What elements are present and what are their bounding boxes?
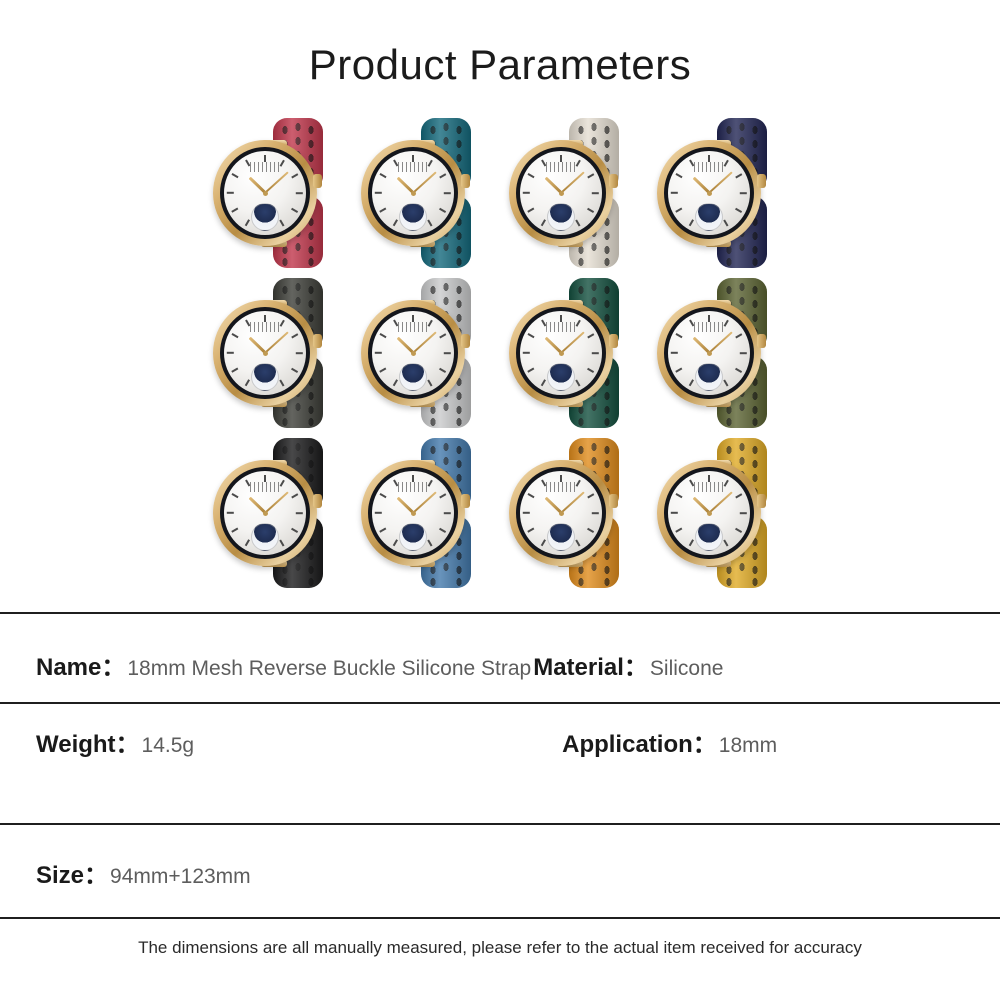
dial-tick bbox=[232, 528, 239, 533]
watch-crown bbox=[609, 334, 618, 348]
dial-tick bbox=[576, 379, 581, 386]
moon-phase-subdial bbox=[547, 363, 575, 391]
minute-hand bbox=[412, 331, 437, 354]
watch-dial bbox=[520, 471, 602, 555]
dial-tick bbox=[587, 173, 594, 178]
dial-tick bbox=[291, 173, 298, 178]
watch-case bbox=[213, 140, 317, 246]
watch-bezel bbox=[368, 307, 458, 399]
spec-size: Size： 94mm+123mm bbox=[36, 855, 251, 890]
minute-hand bbox=[560, 331, 585, 354]
dial-tick bbox=[264, 475, 266, 482]
hand-pivot bbox=[263, 511, 268, 516]
minute-hand bbox=[560, 491, 585, 514]
dial-tick bbox=[523, 512, 530, 514]
spec-row-weight: Weight： 14.5g Application： 18mm bbox=[0, 724, 1000, 758]
watch-swatch[interactable] bbox=[353, 272, 501, 432]
dial-tick bbox=[735, 528, 742, 533]
dial-tick bbox=[280, 539, 285, 546]
dial-tick bbox=[245, 539, 250, 546]
dial-tick bbox=[740, 192, 747, 194]
watch-swatch[interactable] bbox=[649, 112, 797, 272]
moon-phase-subdial bbox=[695, 363, 723, 391]
divider-weight-size bbox=[0, 823, 1000, 825]
dial-tick bbox=[676, 368, 683, 373]
watch-dial bbox=[372, 151, 454, 235]
divider-bottom bbox=[0, 917, 1000, 919]
dial-tick bbox=[708, 155, 710, 162]
dial-complication bbox=[398, 482, 428, 492]
dial-tick bbox=[724, 320, 729, 327]
watch-image bbox=[655, 118, 795, 268]
watch-case bbox=[657, 140, 761, 246]
dial-complication bbox=[250, 162, 280, 172]
dial-tick bbox=[671, 352, 678, 354]
dial-tick bbox=[541, 219, 546, 226]
dial-tick bbox=[592, 352, 599, 354]
dial-tick bbox=[232, 333, 239, 338]
dial-tick bbox=[428, 379, 433, 386]
watch-swatch[interactable] bbox=[649, 272, 797, 432]
watch-swatch[interactable] bbox=[205, 272, 353, 432]
dial-tick bbox=[444, 192, 451, 194]
watch-dial bbox=[668, 151, 750, 235]
dial-tick bbox=[576, 539, 581, 546]
dial-complication bbox=[398, 322, 428, 332]
dial-tick bbox=[428, 320, 433, 327]
watch-bezel bbox=[664, 147, 754, 239]
weight-label: Weight： bbox=[36, 724, 140, 759]
dial-tick bbox=[412, 315, 414, 322]
dial-tick bbox=[444, 352, 451, 354]
watch-image bbox=[359, 278, 499, 428]
watch-bezel bbox=[220, 467, 310, 559]
watch-crown bbox=[313, 334, 322, 348]
dial-tick bbox=[689, 379, 694, 386]
watch-image bbox=[211, 438, 351, 588]
dial-complication bbox=[398, 162, 428, 172]
dial-tick bbox=[280, 379, 285, 386]
dial-tick bbox=[380, 333, 387, 338]
watch-bezel bbox=[664, 307, 754, 399]
dial-tick bbox=[280, 219, 285, 226]
moon-phase-subdial bbox=[695, 203, 723, 231]
weight-value: 14.5g bbox=[142, 734, 195, 758]
dial-tick bbox=[439, 333, 446, 338]
dial-tick bbox=[280, 480, 285, 487]
dial-tick bbox=[375, 192, 382, 194]
hand-pivot bbox=[411, 191, 416, 196]
moon-phase-subdial bbox=[251, 523, 279, 551]
watch-swatch[interactable] bbox=[353, 432, 501, 592]
dial-tick bbox=[740, 512, 747, 514]
dial-tick bbox=[375, 352, 382, 354]
watch-crown bbox=[313, 174, 322, 188]
dial-complication bbox=[546, 482, 576, 492]
watch-case bbox=[213, 460, 317, 566]
dial-complication bbox=[250, 482, 280, 492]
dial-tick bbox=[676, 528, 683, 533]
dial-tick bbox=[689, 219, 694, 226]
watch-dial bbox=[224, 311, 306, 395]
watch-dial bbox=[372, 471, 454, 555]
watch-crown bbox=[461, 174, 470, 188]
watch-swatch[interactable] bbox=[649, 432, 797, 592]
dial-tick bbox=[439, 368, 446, 373]
moon-phase-subdial bbox=[399, 203, 427, 231]
dial-tick bbox=[380, 493, 387, 498]
watch-dial bbox=[224, 151, 306, 235]
dial-tick bbox=[380, 173, 387, 178]
dial-tick bbox=[428, 160, 433, 167]
dial-tick bbox=[439, 528, 446, 533]
minute-hand bbox=[708, 331, 733, 354]
watch-crown bbox=[609, 494, 618, 508]
watch-swatch[interactable] bbox=[501, 112, 649, 272]
watch-image bbox=[359, 438, 499, 588]
dial-tick bbox=[412, 155, 414, 162]
watch-bezel bbox=[368, 467, 458, 559]
dial-tick bbox=[227, 512, 234, 514]
dial-tick bbox=[412, 475, 414, 482]
watch-image bbox=[211, 278, 351, 428]
dial-tick bbox=[291, 528, 298, 533]
dial-tick bbox=[541, 539, 546, 546]
watch-image bbox=[507, 438, 647, 588]
spec-row-name: Name： 18mm Mesh Reverse Buckle Silicone … bbox=[0, 647, 1000, 681]
dial-tick bbox=[227, 192, 234, 194]
dial-tick bbox=[528, 208, 535, 213]
dial-tick bbox=[380, 368, 387, 373]
dial-tick bbox=[264, 155, 266, 162]
watch-bezel bbox=[220, 307, 310, 399]
watch-bezel bbox=[368, 147, 458, 239]
dial-tick bbox=[592, 192, 599, 194]
dial-tick bbox=[280, 160, 285, 167]
dial-tick bbox=[232, 173, 239, 178]
dial-tick bbox=[592, 512, 599, 514]
watch-case bbox=[509, 460, 613, 566]
dial-tick bbox=[380, 208, 387, 213]
dial-tick bbox=[444, 512, 451, 514]
watch-image bbox=[655, 438, 795, 588]
moon-phase-subdial bbox=[547, 203, 575, 231]
dial-tick bbox=[689, 539, 694, 546]
dial-complication bbox=[546, 322, 576, 332]
watch-case bbox=[657, 460, 761, 566]
dial-tick bbox=[528, 368, 535, 373]
watch-color-gallery bbox=[205, 112, 795, 592]
hand-pivot bbox=[707, 511, 712, 516]
watch-dial bbox=[520, 311, 602, 395]
dial-tick bbox=[587, 493, 594, 498]
watch-bezel bbox=[516, 147, 606, 239]
dial-tick bbox=[541, 379, 546, 386]
dial-tick bbox=[291, 333, 298, 338]
dial-tick bbox=[296, 352, 303, 354]
watch-case bbox=[361, 460, 465, 566]
spec-material: Material： Silicone bbox=[533, 647, 723, 682]
minute-hand bbox=[264, 491, 289, 514]
dial-tick bbox=[245, 219, 250, 226]
dial-tick bbox=[708, 315, 710, 322]
dial-tick bbox=[291, 368, 298, 373]
dial-tick bbox=[393, 219, 398, 226]
watch-swatch[interactable] bbox=[205, 112, 353, 272]
name-value: 18mm Mesh Reverse Buckle Silicone Strap bbox=[127, 657, 531, 681]
dial-tick bbox=[708, 475, 710, 482]
watch-dial bbox=[668, 471, 750, 555]
dial-tick bbox=[291, 208, 298, 213]
dial-tick bbox=[296, 512, 303, 514]
dial-tick bbox=[296, 192, 303, 194]
dial-tick bbox=[560, 475, 562, 482]
dial-tick bbox=[676, 493, 683, 498]
dial-tick bbox=[671, 512, 678, 514]
moon-phase-subdial bbox=[251, 363, 279, 391]
watch-crown bbox=[461, 494, 470, 508]
dial-tick bbox=[428, 539, 433, 546]
moon-phase-subdial bbox=[547, 523, 575, 551]
dial-tick bbox=[676, 208, 683, 213]
watch-case bbox=[361, 300, 465, 406]
watch-swatch[interactable] bbox=[205, 432, 353, 592]
watch-case bbox=[509, 140, 613, 246]
divider-name-weight bbox=[0, 702, 1000, 704]
watch-crown bbox=[313, 494, 322, 508]
watch-crown bbox=[609, 174, 618, 188]
dial-complication bbox=[694, 162, 724, 172]
dial-tick bbox=[576, 480, 581, 487]
application-label: Application： bbox=[562, 724, 717, 759]
watch-case bbox=[361, 140, 465, 246]
dial-tick bbox=[439, 493, 446, 498]
watch-bezel bbox=[220, 147, 310, 239]
moon-phase-subdial bbox=[399, 363, 427, 391]
dial-tick bbox=[280, 320, 285, 327]
hand-pivot bbox=[559, 191, 564, 196]
dial-tick bbox=[380, 528, 387, 533]
minute-hand bbox=[264, 171, 289, 194]
watch-dial bbox=[224, 471, 306, 555]
dial-tick bbox=[245, 379, 250, 386]
dial-tick bbox=[724, 219, 729, 226]
hand-pivot bbox=[411, 511, 416, 516]
hand-pivot bbox=[707, 351, 712, 356]
dial-tick bbox=[428, 219, 433, 226]
watch-bezel bbox=[664, 467, 754, 559]
dial-tick bbox=[587, 333, 594, 338]
watch-image bbox=[211, 118, 351, 268]
page-title: Product Parameters bbox=[0, 44, 1000, 86]
minute-hand bbox=[708, 171, 733, 194]
spec-row-size: Size： 94mm+123mm bbox=[0, 855, 1000, 889]
watch-swatch[interactable] bbox=[501, 432, 649, 592]
watch-bezel bbox=[516, 467, 606, 559]
dial-tick bbox=[724, 379, 729, 386]
spec-weight: Weight： 14.5g bbox=[36, 724, 194, 759]
dial-tick bbox=[735, 208, 742, 213]
size-label: Size： bbox=[36, 855, 108, 890]
watch-case bbox=[657, 300, 761, 406]
moon-phase-subdial bbox=[251, 203, 279, 231]
dial-tick bbox=[439, 173, 446, 178]
name-label: Name： bbox=[36, 647, 125, 682]
hand-pivot bbox=[559, 511, 564, 516]
dial-tick bbox=[735, 493, 742, 498]
dial-complication bbox=[250, 322, 280, 332]
dial-tick bbox=[587, 528, 594, 533]
dial-tick bbox=[528, 493, 535, 498]
watch-case bbox=[509, 300, 613, 406]
dial-tick bbox=[676, 333, 683, 338]
measurement-disclaimer: The dimensions are all manually measured… bbox=[0, 938, 1000, 958]
dial-complication bbox=[694, 322, 724, 332]
dial-tick bbox=[560, 155, 562, 162]
dial-tick bbox=[740, 352, 747, 354]
dial-tick bbox=[676, 173, 683, 178]
minute-hand bbox=[412, 171, 437, 194]
dial-tick bbox=[227, 352, 234, 354]
dial-tick bbox=[264, 315, 266, 322]
spec-application: Application： 18mm bbox=[562, 724, 777, 759]
hand-pivot bbox=[707, 191, 712, 196]
watch-image bbox=[507, 118, 647, 268]
dial-tick bbox=[393, 539, 398, 546]
material-value: Silicone bbox=[650, 657, 724, 681]
dial-tick bbox=[576, 320, 581, 327]
hand-pivot bbox=[411, 351, 416, 356]
dial-tick bbox=[232, 493, 239, 498]
dial-tick bbox=[724, 160, 729, 167]
minute-hand bbox=[708, 491, 733, 514]
dial-tick bbox=[528, 528, 535, 533]
watch-dial bbox=[372, 311, 454, 395]
moon-phase-subdial bbox=[695, 523, 723, 551]
watch-image bbox=[655, 278, 795, 428]
dial-tick bbox=[523, 192, 530, 194]
dial-tick bbox=[428, 480, 433, 487]
hand-pivot bbox=[559, 351, 564, 356]
watch-dial bbox=[520, 151, 602, 235]
dial-tick bbox=[587, 368, 594, 373]
spec-name: Name： 18mm Mesh Reverse Buckle Silicone … bbox=[36, 647, 531, 682]
dial-tick bbox=[291, 493, 298, 498]
dial-tick bbox=[735, 333, 742, 338]
moon-phase-subdial bbox=[399, 523, 427, 551]
watch-crown bbox=[757, 174, 766, 188]
dial-tick bbox=[735, 368, 742, 373]
dial-tick bbox=[560, 315, 562, 322]
dial-tick bbox=[393, 379, 398, 386]
divider-top bbox=[0, 612, 1000, 614]
material-label: Material： bbox=[533, 647, 648, 682]
hand-pivot bbox=[263, 191, 268, 196]
dial-tick bbox=[523, 352, 530, 354]
dial-tick bbox=[232, 368, 239, 373]
hand-pivot bbox=[263, 351, 268, 356]
watch-case bbox=[213, 300, 317, 406]
watch-image bbox=[507, 278, 647, 428]
dial-tick bbox=[735, 173, 742, 178]
dial-tick bbox=[724, 480, 729, 487]
dial-tick bbox=[528, 333, 535, 338]
minute-hand bbox=[264, 331, 289, 354]
dial-tick bbox=[671, 192, 678, 194]
watch-image bbox=[359, 118, 499, 268]
minute-hand bbox=[412, 491, 437, 514]
minute-hand bbox=[560, 171, 585, 194]
watch-crown bbox=[461, 334, 470, 348]
application-value: 18mm bbox=[719, 734, 777, 758]
dial-tick bbox=[576, 219, 581, 226]
watch-swatch[interactable] bbox=[501, 272, 649, 432]
dial-tick bbox=[528, 173, 535, 178]
watch-bezel bbox=[516, 307, 606, 399]
watch-dial bbox=[668, 311, 750, 395]
dial-complication bbox=[694, 482, 724, 492]
dial-tick bbox=[587, 208, 594, 213]
dial-complication bbox=[546, 162, 576, 172]
dial-tick bbox=[576, 160, 581, 167]
watch-crown bbox=[757, 494, 766, 508]
watch-swatch[interactable] bbox=[353, 112, 501, 272]
dial-tick bbox=[375, 512, 382, 514]
dial-tick bbox=[232, 208, 239, 213]
dial-tick bbox=[439, 208, 446, 213]
watch-crown bbox=[757, 334, 766, 348]
size-value: 94mm+123mm bbox=[110, 865, 251, 889]
dial-tick bbox=[724, 539, 729, 546]
